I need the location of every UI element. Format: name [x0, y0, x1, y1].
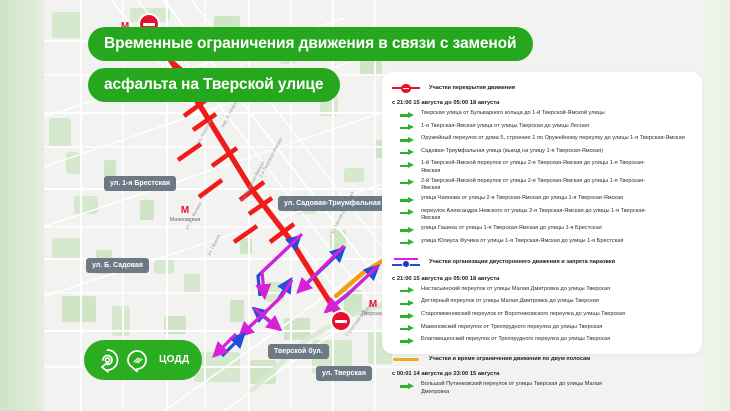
list-item-text: 1-я Тверская-Ямская улица от улицы Тверс…: [421, 123, 589, 130]
list-item: 2-й Тверской-Ямской переулок от улицы 2-…: [392, 178, 692, 193]
list-item-text: Тверская улица от Бульварного кольца до …: [421, 110, 605, 117]
list-item: Оружейный переулок от дома 5, строение 1…: [392, 135, 692, 145]
arrow-right-icon: [400, 179, 414, 188]
arrow-right-icon: [400, 136, 414, 145]
arrow-right-icon: [400, 226, 414, 235]
list-item: Тверская улица от Бульварного кольца до …: [392, 110, 692, 120]
headline-line-1: Временные ограничения движения в связи с…: [88, 27, 533, 61]
list-item: улица Чаянова от улицы 2-я Тверская-Ямск…: [392, 195, 692, 205]
legend-items-closures: Тверская улица от Бульварного кольца до …: [392, 110, 692, 248]
legend-section-title: Участки организации двустороннего движен…: [429, 259, 615, 266]
list-item: Старопименовский переулок от Воротниковс…: [392, 311, 692, 321]
arrow-right-icon: [400, 299, 414, 308]
legend-section-header-closures: Участки перекрытия движения: [392, 83, 692, 93]
legend-section-title: Участки перекрытия движения: [429, 85, 515, 92]
arrow-right-icon: [400, 312, 414, 321]
metro-name: Маяковская: [156, 217, 214, 224]
arrow-right-icon: [400, 149, 414, 158]
legend-panel: Участки перекрытия движения с 21:00 15 а…: [382, 72, 702, 354]
list-item-text: Старопименовский переулок от Воротниковс…: [421, 311, 625, 318]
list-item: Дегтярный переулок от улицы Малая Дмитро…: [392, 298, 692, 308]
legend-items-twoway: Настасьинский переулок от улицы Малая Дм…: [392, 286, 692, 346]
codd-drop-icon: [125, 348, 150, 373]
infographic-root: ул. Ю. Фучика ул. Гашека 1-я Тверская-Ям…: [0, 0, 730, 411]
list-item: переулок Александра Невского от улицы 2-…: [392, 208, 692, 223]
legend-section-title: Участки и время ограничения движения по …: [429, 356, 590, 363]
lane-restriction-icon: [392, 354, 420, 364]
list-item-text: 2-й Тверской-Ямской переулок от улицы 2-…: [421, 178, 656, 193]
list-item: 1-й Тверской-Ямской переулок от улицы 2-…: [392, 160, 692, 175]
arrow-right-icon: [400, 287, 414, 296]
arrow-right-icon: [400, 325, 414, 334]
street-pill-brestskaya: ул. 1-я Брестская: [104, 176, 176, 191]
street-pill-tverskaya: ул. Тверская: [316, 366, 372, 381]
road-closed-icon: [392, 83, 420, 93]
list-item-text: переулок Александра Невского от улицы 2-…: [421, 208, 649, 223]
list-item-text: Благовещенский переулок от Трехпрудного …: [421, 336, 610, 343]
street-pill-tverskoy-bulvar: Тверской бул.: [268, 344, 329, 359]
list-item-text: Большой Путинковский переулок от улицы Т…: [421, 381, 621, 396]
street-pill-sadovaya-triumfalnaya: ул. Садовая-Триумфальная: [278, 196, 387, 211]
legend-section-header-lanes: Участки и время ограничения движения по …: [392, 354, 692, 364]
legend-section-time: с 00:01 14 августа до 23:00 15 августа: [392, 370, 692, 378]
list-item: Большой Путинковский переулок от улицы Т…: [392, 381, 692, 396]
list-item: 1-я Тверская-Ямская улица от улицы Тверс…: [392, 123, 692, 133]
arrow-right-icon: [400, 209, 414, 218]
legend-section-time: с 21:00 15 августа до 05:00 18 августа: [392, 275, 692, 283]
list-item: Настасьинский переулок от улицы Малая Дм…: [392, 286, 692, 296]
arrow-right-icon: [400, 239, 414, 248]
list-item: Благовещенский переулок от Трехпрудного …: [392, 336, 692, 346]
legend-items-lanes: Большой Путинковский переулок от улицы Т…: [392, 381, 692, 396]
list-item-text: 1-й Тверской-Ямской переулок от улицы 2-…: [421, 160, 656, 175]
arrow-right-icon: [400, 382, 414, 391]
list-item-text: Мамоновский переулок от Трехпрудного пер…: [421, 324, 602, 331]
arrow-right-icon: [400, 161, 414, 170]
legend-section-header-twoway: Участки организации двустороннего движен…: [392, 257, 692, 269]
legend-section-time: с 21:00 15 августа до 05:00 18 августа: [392, 99, 692, 107]
arrow-right-icon: [400, 124, 414, 133]
list-item-text: Дегтярный переулок от улицы Малая Дмитро…: [421, 298, 599, 305]
headline-line-2: асфальта на Тверской улице: [88, 68, 340, 102]
street-pill-b-sadovaya: ул. Б. Садовая: [86, 258, 149, 273]
metro-glyph: М: [156, 206, 214, 216]
list-item-text: Настасьинский переулок от улицы Малая Дм…: [421, 286, 610, 293]
list-item: Садовая-Триумфальная улица (выезд на ули…: [392, 148, 692, 158]
arrow-right-icon: [400, 196, 414, 205]
codd-logo-text: ЦОДД: [159, 354, 189, 366]
codd-logo[interactable]: ЦОДД: [84, 340, 202, 380]
arrow-right-icon: [400, 337, 414, 346]
list-item: улица Гашека от улицы 1-я Тверская-Ямска…: [392, 225, 692, 235]
codd-spiral-icon: [95, 348, 120, 373]
two-way-traffic-icon: [392, 257, 420, 269]
list-item: Мамоновский переулок от Трехпрудного пер…: [392, 324, 692, 334]
list-item: улица Юлиуса Фучика от улицы 1-я Тверска…: [392, 238, 692, 248]
list-item-text: улица Гашека от улицы 1-я Тверская-Ямска…: [421, 225, 602, 232]
list-item-text: улица Чаянова от улицы 2-я Тверская-Ямск…: [421, 195, 623, 202]
arrow-right-icon: [400, 111, 414, 120]
list-item-text: Садовая-Триумфальная улица (выезд на ули…: [421, 148, 603, 155]
list-item-text: улица Юлиуса Фучика от улицы 1-я Тверска…: [421, 238, 623, 245]
list-item-text: Оружейный переулок от дома 5, строение 1…: [421, 135, 685, 142]
metro-station[interactable]: М Маяковская: [156, 206, 214, 224]
